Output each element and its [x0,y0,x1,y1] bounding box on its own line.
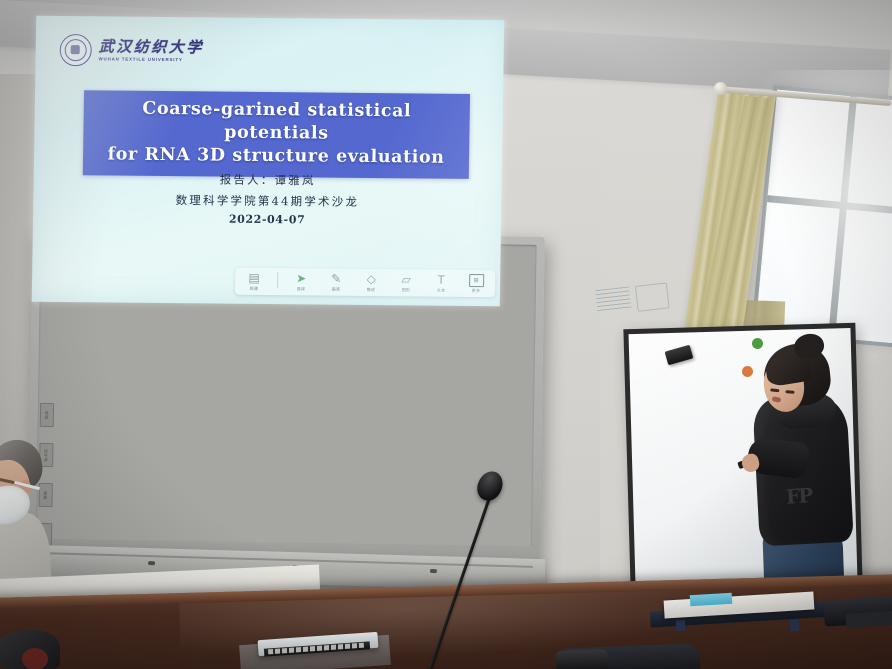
projected-slide-screen[interactable]: 武汉纺织大学 WUHAN TEXTILE UNIVERSITY Coarse-g… [32,16,504,306]
shape-icon: ▱ [401,272,410,286]
microphone-base [556,649,609,669]
slide-university-logo: 武汉纺织大学 WUHAN TEXTILE UNIVERSITY [59,34,204,67]
eraser-icon: ◇ [366,272,375,286]
hoodie-logo: FP [785,483,812,509]
toolbar-label-new-page: 新建 [250,286,259,292]
window-mullion-horizontal [767,196,892,217]
toolbar-item-more[interactable]: ⊞ 更多 [463,274,489,294]
toolbar-label-eraser: 橡皮 [367,287,376,293]
projector-vent-icon [595,286,631,312]
pen-slot-3[interactable] [430,569,437,573]
foreground-object-accent [22,648,48,669]
toolbar-label-select: 选择 [297,286,306,292]
toolbar-divider [277,272,278,288]
logo-name-cn: 武汉纺织大学 [99,39,204,55]
more-tools-icon: ⊞ [469,274,484,287]
folder-foot-right [790,620,799,631]
pen-slot-1[interactable] [148,561,155,565]
toolbar-item-shape[interactable]: ▱ 图形 [393,272,419,293]
university-seal-icon [59,34,92,66]
slide-subtitle-block: 报告人：谭雅岚 数理科学学院第44期学术沙龙 2022-04-07 [33,168,502,228]
slide-title-band: Coarse-garined statistical potentials fo… [83,90,470,179]
curtain-rod-finial [714,82,727,95]
toolbar-label-shape: 图形 [402,287,411,293]
window-mullion-vertical [828,96,857,338]
lecture-room-photo: EPSON FP 武汉纺织大学 [0,0,892,669]
toolbar-item-pen[interactable]: ✎ 画笔 [323,272,349,293]
pen-icon: ✎ [331,272,341,286]
presenter-eye-right [785,390,794,393]
text-box-icon: T [437,273,445,287]
toolbar-label-text: 文本 [437,288,446,294]
presenter-eye-left [770,388,779,391]
slide-annotation-toolbar[interactable]: ▤ 新建 ➤ 选择 ✎ 画笔 ◇ 橡皮 ▱ 图形 T 文本 [235,268,495,297]
toolbar-label-pen: 画笔 [332,287,341,293]
black-device-right-base [846,610,892,628]
projector-control-panel[interactable] [635,282,670,311]
new-page-icon: ▤ [248,271,260,285]
cursor-select-icon: ➤ [296,271,306,285]
slide-title-line-2: for RNA 3D structure evaluation [87,143,465,170]
logo-name-en: WUHAN TEXTILE UNIVERSITY [99,57,204,62]
toolbar-item-eraser[interactable]: ◇ 橡皮 [358,272,384,293]
toolbar-item-text[interactable]: T 文本 [428,273,454,294]
toolbar-item-new-page[interactable]: ▤ 新建 [241,271,267,292]
slide-title-line-1: Coarse-garined statistical potentials [87,97,466,147]
toolbar-label-more: 更多 [472,288,481,294]
toolbar-item-select[interactable]: ➤ 选择 [288,271,314,292]
folder-foot-left [676,620,685,631]
power-button[interactable]: 电源 [39,403,53,427]
